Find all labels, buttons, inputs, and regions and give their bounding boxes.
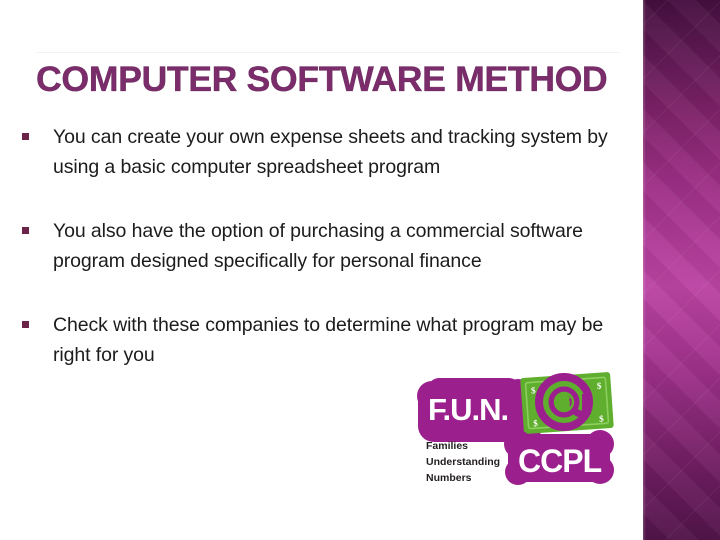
- logo-expansion-line-3: Numbers: [426, 472, 472, 484]
- diamond-pattern-overlay: [643, 0, 720, 540]
- list-item-text: You also have the option of purchasing a…: [53, 216, 642, 276]
- panel-edge-highlight: [643, 0, 646, 540]
- title-divider-rule: [36, 52, 620, 53]
- logo-acronym: F.U.N.: [428, 392, 508, 427]
- logo-expansion-line-1: Families: [426, 440, 468, 452]
- square-bullet-icon: [22, 133, 29, 140]
- list-item: You can create your own expense sheets a…: [22, 122, 642, 182]
- list-item-text: Check with these companies to determine …: [53, 310, 642, 370]
- page-title: COMPUTER SOFTWARE METHOD: [36, 58, 632, 102]
- logo-expansion-line-2: Understanding: [426, 456, 500, 468]
- list-item: Check with these companies to determine …: [22, 310, 642, 370]
- bullet-list: You can create your own expense sheets a…: [22, 122, 642, 404]
- square-bullet-icon: [22, 321, 29, 328]
- logo-org-name: CCPL: [518, 443, 602, 479]
- decorative-side-panel: [643, 0, 720, 540]
- fun-ccpl-logo: $ $ $ $ F.U.N.: [414, 372, 620, 504]
- list-item: You also have the option of purchasing a…: [22, 216, 642, 276]
- title-block: COMPUTER SOFTWARE METHOD: [36, 52, 620, 102]
- list-item-text: You can create your own expense sheets a…: [53, 122, 642, 182]
- square-bullet-icon: [22, 227, 29, 234]
- slide-canvas: COMPUTER SOFTWARE METHOD You can create …: [0, 0, 720, 540]
